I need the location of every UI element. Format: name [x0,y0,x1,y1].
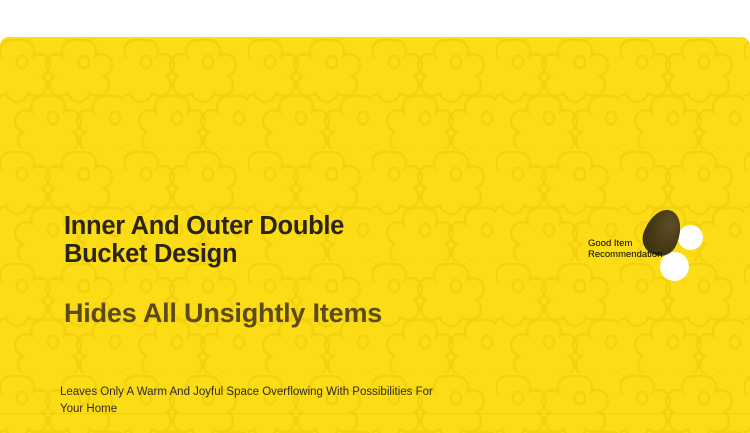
page-title: Inner And Outer Double Bucket Design [64,213,344,268]
promo-supporting-text: Leaves Only A Warm And Joyful Space Over… [60,384,450,417]
promo-subheadline: Hides All Unsightly Items [64,299,382,329]
badge-label: Good Item Recommendation [588,238,700,260]
recommendation-badge: Good Item Recommendation [588,205,708,285]
promo-panel: Inner And Outer Double Bucket Design Hid… [0,37,750,433]
